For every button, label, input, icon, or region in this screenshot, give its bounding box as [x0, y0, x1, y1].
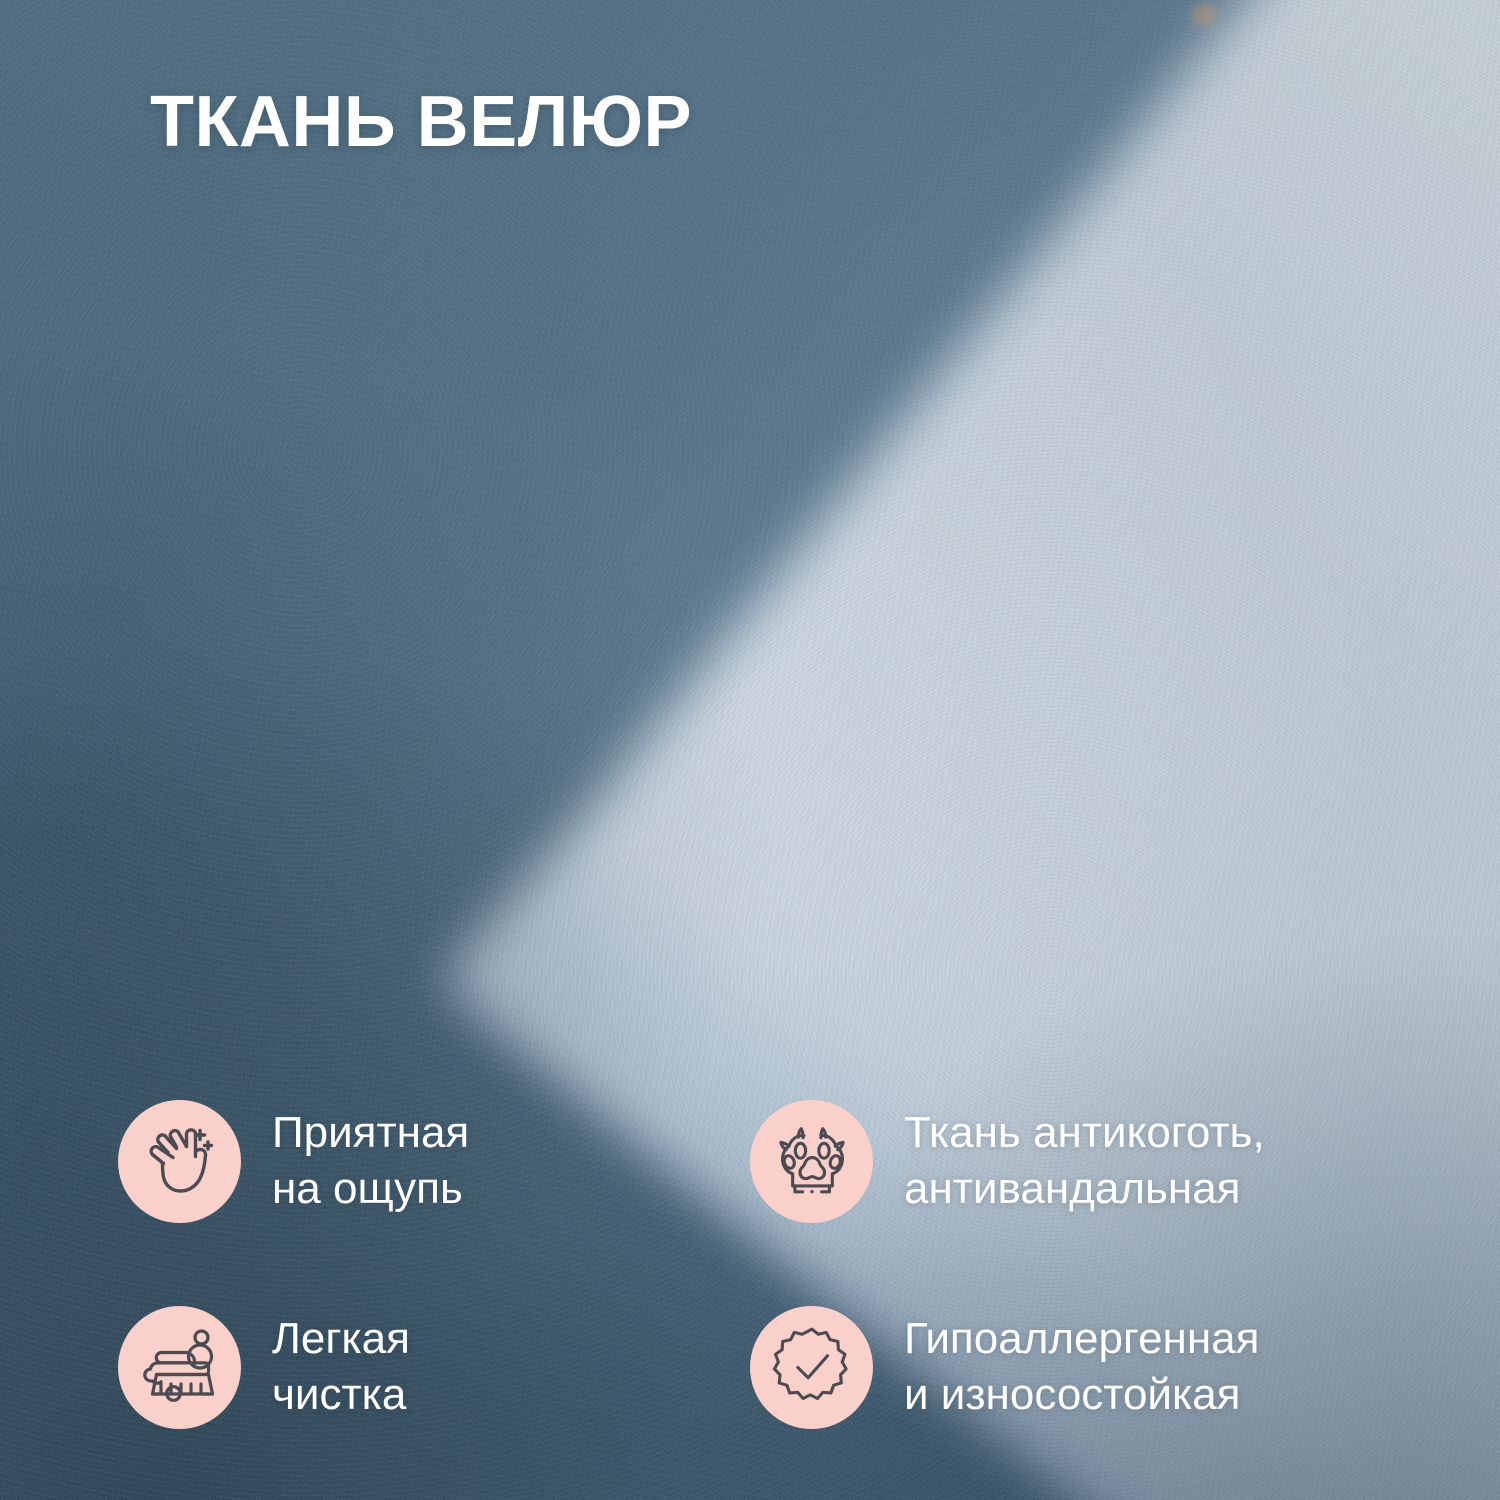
cat-paw-icon [750, 1100, 873, 1223]
feature-item-hypoallergenic: Гипоаллергенная и износостойкая [750, 1264, 1408, 1470]
feature-item-anti-claw: Ткань антикоготь, антивандальная [750, 1058, 1408, 1264]
feature-item-pleasant-touch: Приятная на ощупь [118, 1058, 750, 1264]
feature-list: Приятная на ощупь [118, 1058, 1408, 1470]
feature-label: Приятная на ощупь [272, 1105, 469, 1217]
feature-label: Легкая чистка [272, 1311, 410, 1423]
vacuum-cleaning-icon [118, 1306, 241, 1429]
feature-label: Гипоаллергенная и износостойкая [904, 1311, 1259, 1423]
verified-badge-check-icon [750, 1306, 873, 1429]
feature-item-easy-cleaning: Легкая чистка [118, 1264, 750, 1470]
feature-label: Ткань антикоготь, антивандальная [904, 1105, 1265, 1217]
page-title: ТКАНЬ ВЕЛЮР [150, 86, 692, 158]
lint-speck [1192, 4, 1218, 26]
hand-sparkle-icon [118, 1100, 241, 1223]
